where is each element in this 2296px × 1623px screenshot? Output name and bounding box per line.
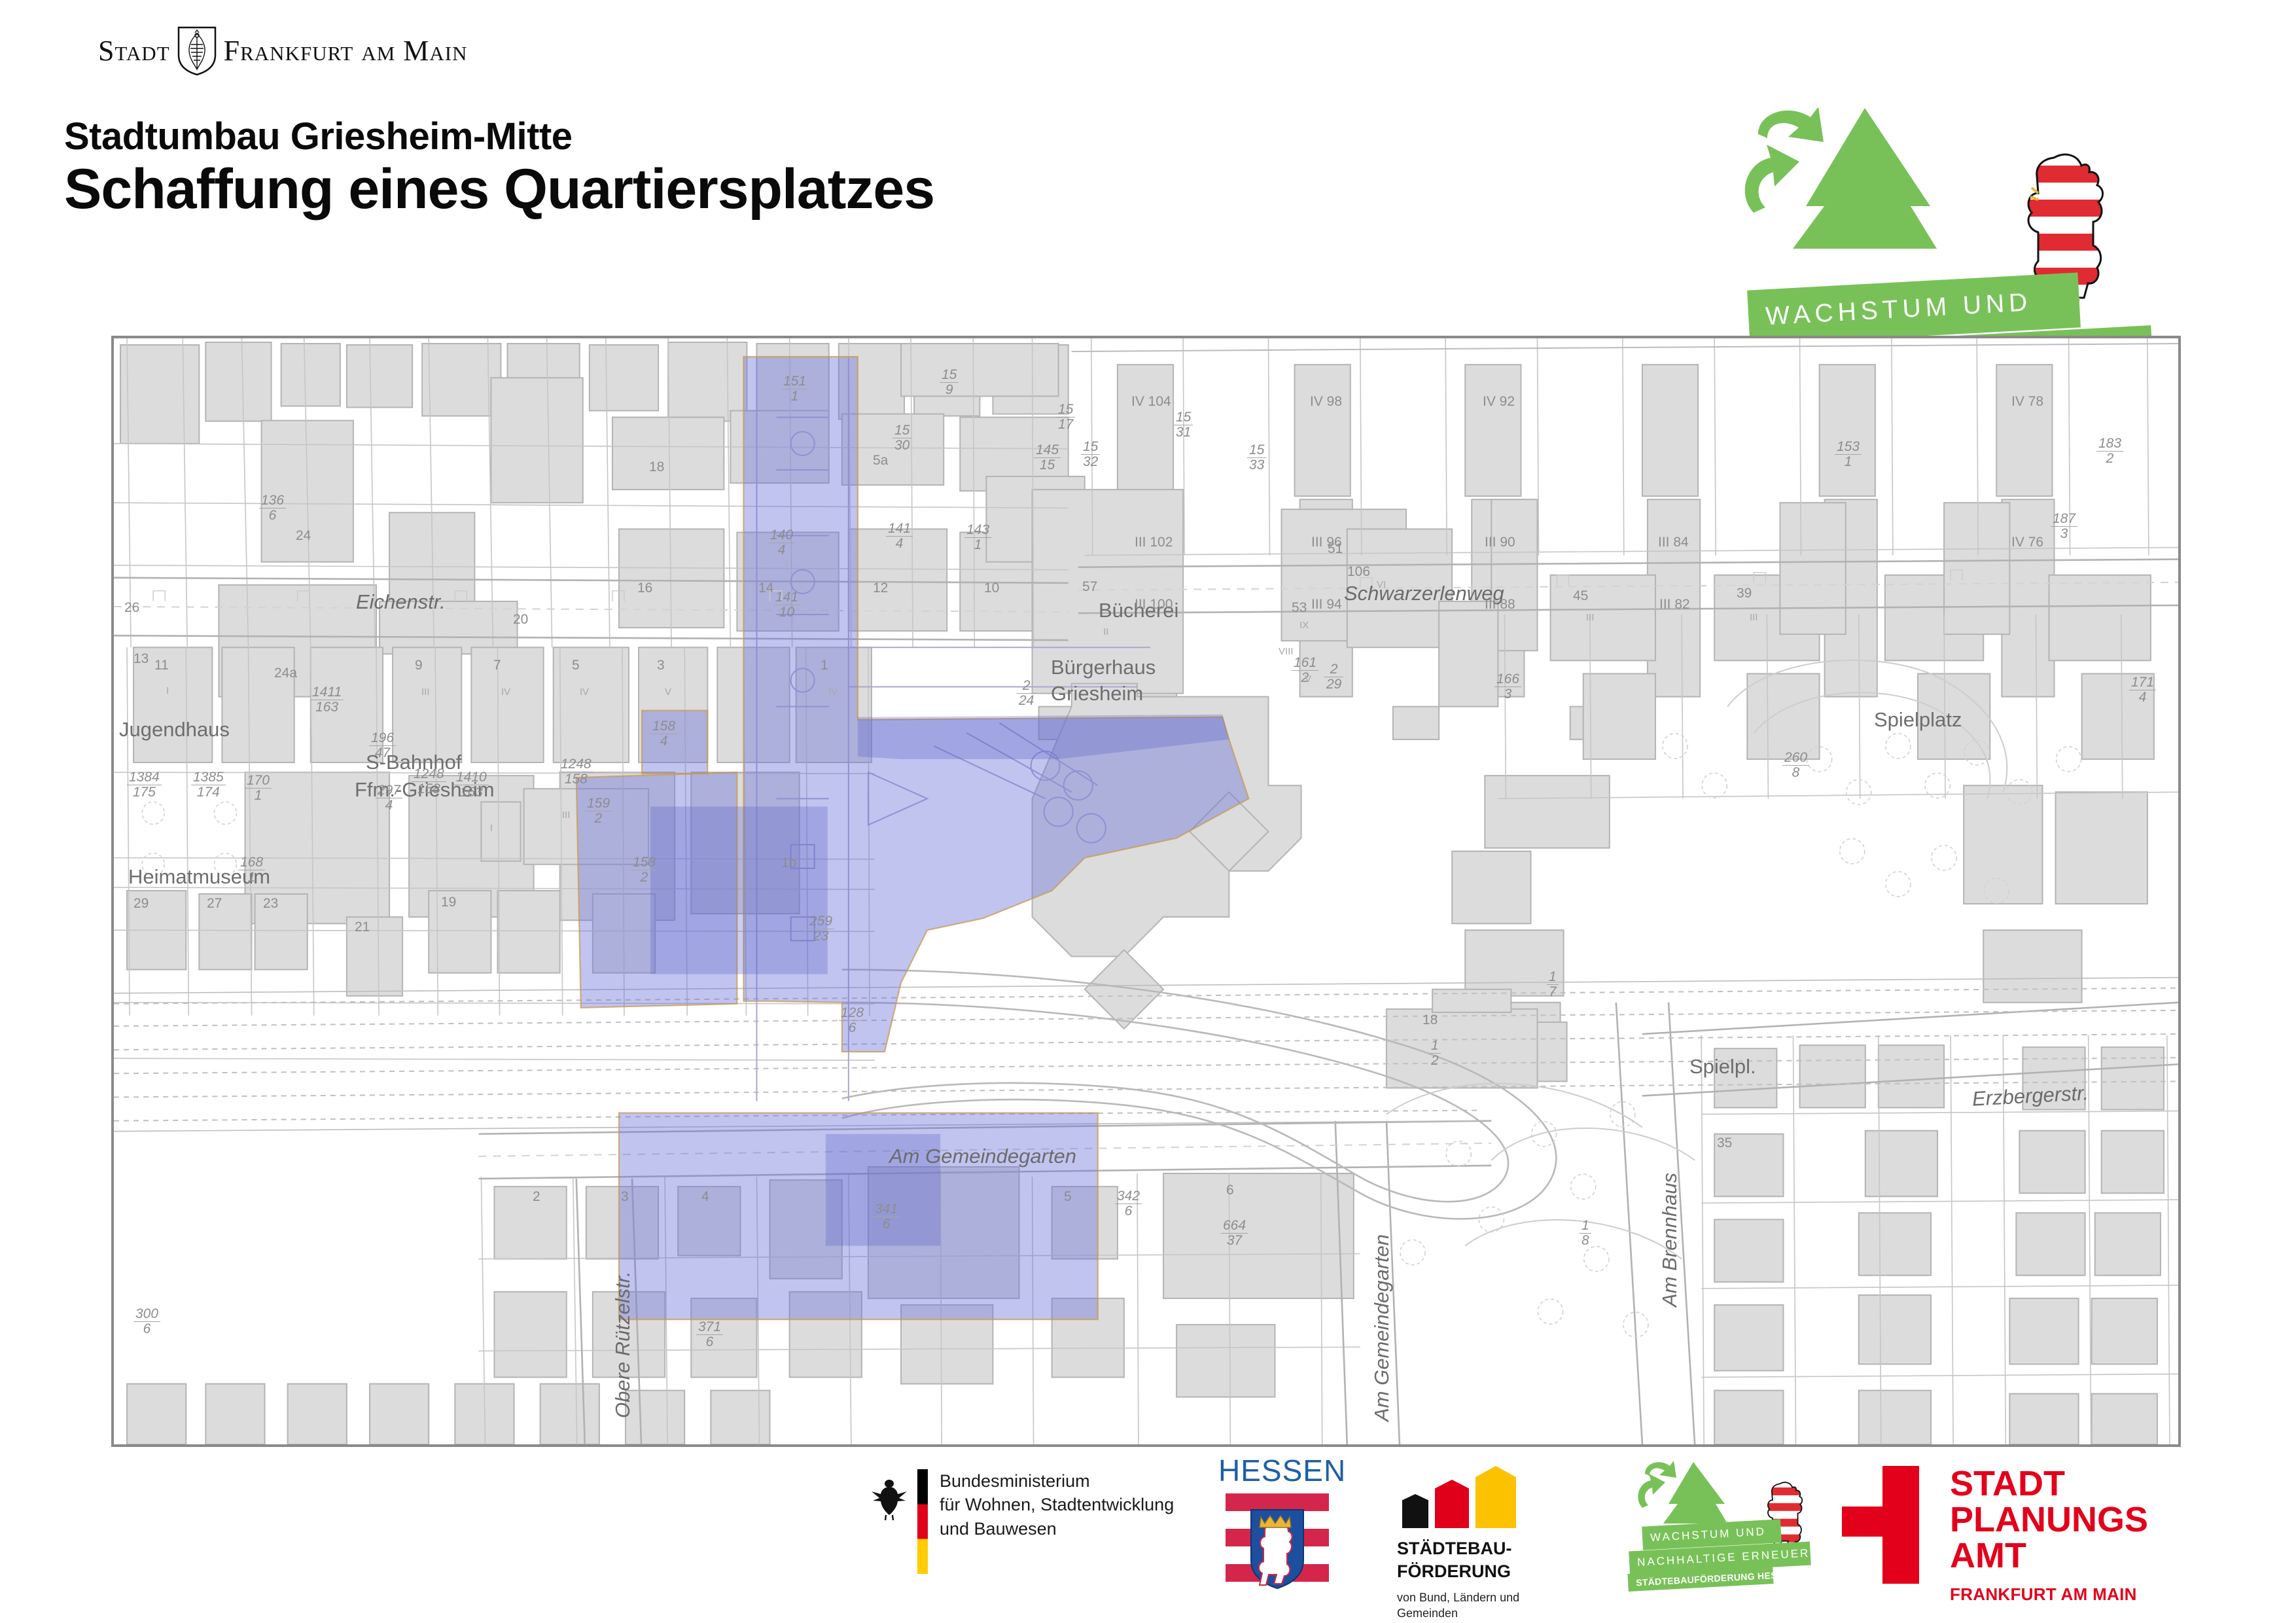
german-flag-bar-icon <box>917 1469 928 1574</box>
three-houses-icon <box>1397 1466 1593 1528</box>
house-yellow-icon <box>1475 1466 1516 1528</box>
page-subtitle: Stadtumbau Griesheim-Mitte <box>64 115 573 158</box>
frankfurt-red-mark-icon <box>1842 1466 1920 1584</box>
hessen-flag-icon <box>1226 1493 1329 1597</box>
house-black-icon <box>1402 1494 1428 1528</box>
cadastral-map[interactable]: Eichenstr. Schwarzerlenweg Am Gemeindega… <box>111 336 2181 1447</box>
stadtplanungsamt-text: STADT PLANUNGS AMT FRANKFURT AM MAIN <box>1950 1466 2148 1594</box>
staedtebau-title-line1: STÄDTEBAU- <box>1397 1537 1613 1560</box>
staedtebau-subtitle: von Bund, Ländern und Gemeinden <box>1397 1590 1613 1622</box>
recycling-arrow-and-tree-icon <box>1714 108 2055 304</box>
staedtebau-sub-line2: Gemeinden <box>1397 1605 1613 1621</box>
page-header: Stadt Frankfurt am Main Stadtumbau Gries… <box>0 0 2296 327</box>
stadtplanung-line2: PLANUNGS <box>1950 1502 2148 1538</box>
bmwsb-line1: Bundesministerium <box>940 1469 1174 1493</box>
bmwsb-line3: und Bauwesen <box>940 1517 1174 1541</box>
city-logo-word-frankfurt: Frankfurt am Main <box>224 37 468 65</box>
city-logo-word-stadt: Stadt <box>98 37 170 65</box>
funding-logos-footer: Bundesministerium für Wohnen, Stadtentwi… <box>0 1446 2296 1623</box>
staedtebau-sub-line1: von Bund, Ländern und <box>1397 1590 1613 1605</box>
stadtplanung-line1: STADT <box>1950 1466 2148 1502</box>
staedtebau-title-line2: FÖRDERUNG <box>1397 1560 1613 1583</box>
house-red-icon <box>1435 1480 1469 1528</box>
stadtplanung-city: FRANKFURT AM MAIN <box>1950 1584 2148 1605</box>
bundesadler-icon <box>870 1474 908 1520</box>
map-drawing <box>114 338 2178 1444</box>
bmwsb-line2: für Wohnen, Stadtentwicklung <box>940 1493 1174 1516</box>
city-logo: Stadt Frankfurt am Main <box>98 25 530 77</box>
page-title: Schaffung eines Quartiersplatzes <box>64 157 934 222</box>
staedtebau-title: STÄDTEBAU- FÖRDERUNG <box>1397 1537 1613 1583</box>
hessen-logo: HESSEN <box>1218 1453 1336 1590</box>
bmwsb-logo: Bundesministerium für Wohnen, Stadtentwi… <box>870 1469 1210 1574</box>
hessen-wordmark: HESSEN <box>1218 1453 1336 1488</box>
hessen-coat-of-arms-icon <box>1249 1508 1305 1590</box>
staedtebaufoerderung-logo: STÄDTEBAU- FÖRDERUNG von Bund, Ländern u… <box>1397 1466 1613 1597</box>
stadtplanung-line3: AMT <box>1950 1538 2148 1574</box>
frankfurt-eagle-crest-icon <box>177 26 217 76</box>
stadtplanungsamt-logo: STADT PLANUNGS AMT FRANKFURT AM MAIN <box>1842 1466 2208 1594</box>
bmwsb-text: Bundesministerium für Wohnen, Stadtentwi… <box>940 1469 1174 1541</box>
